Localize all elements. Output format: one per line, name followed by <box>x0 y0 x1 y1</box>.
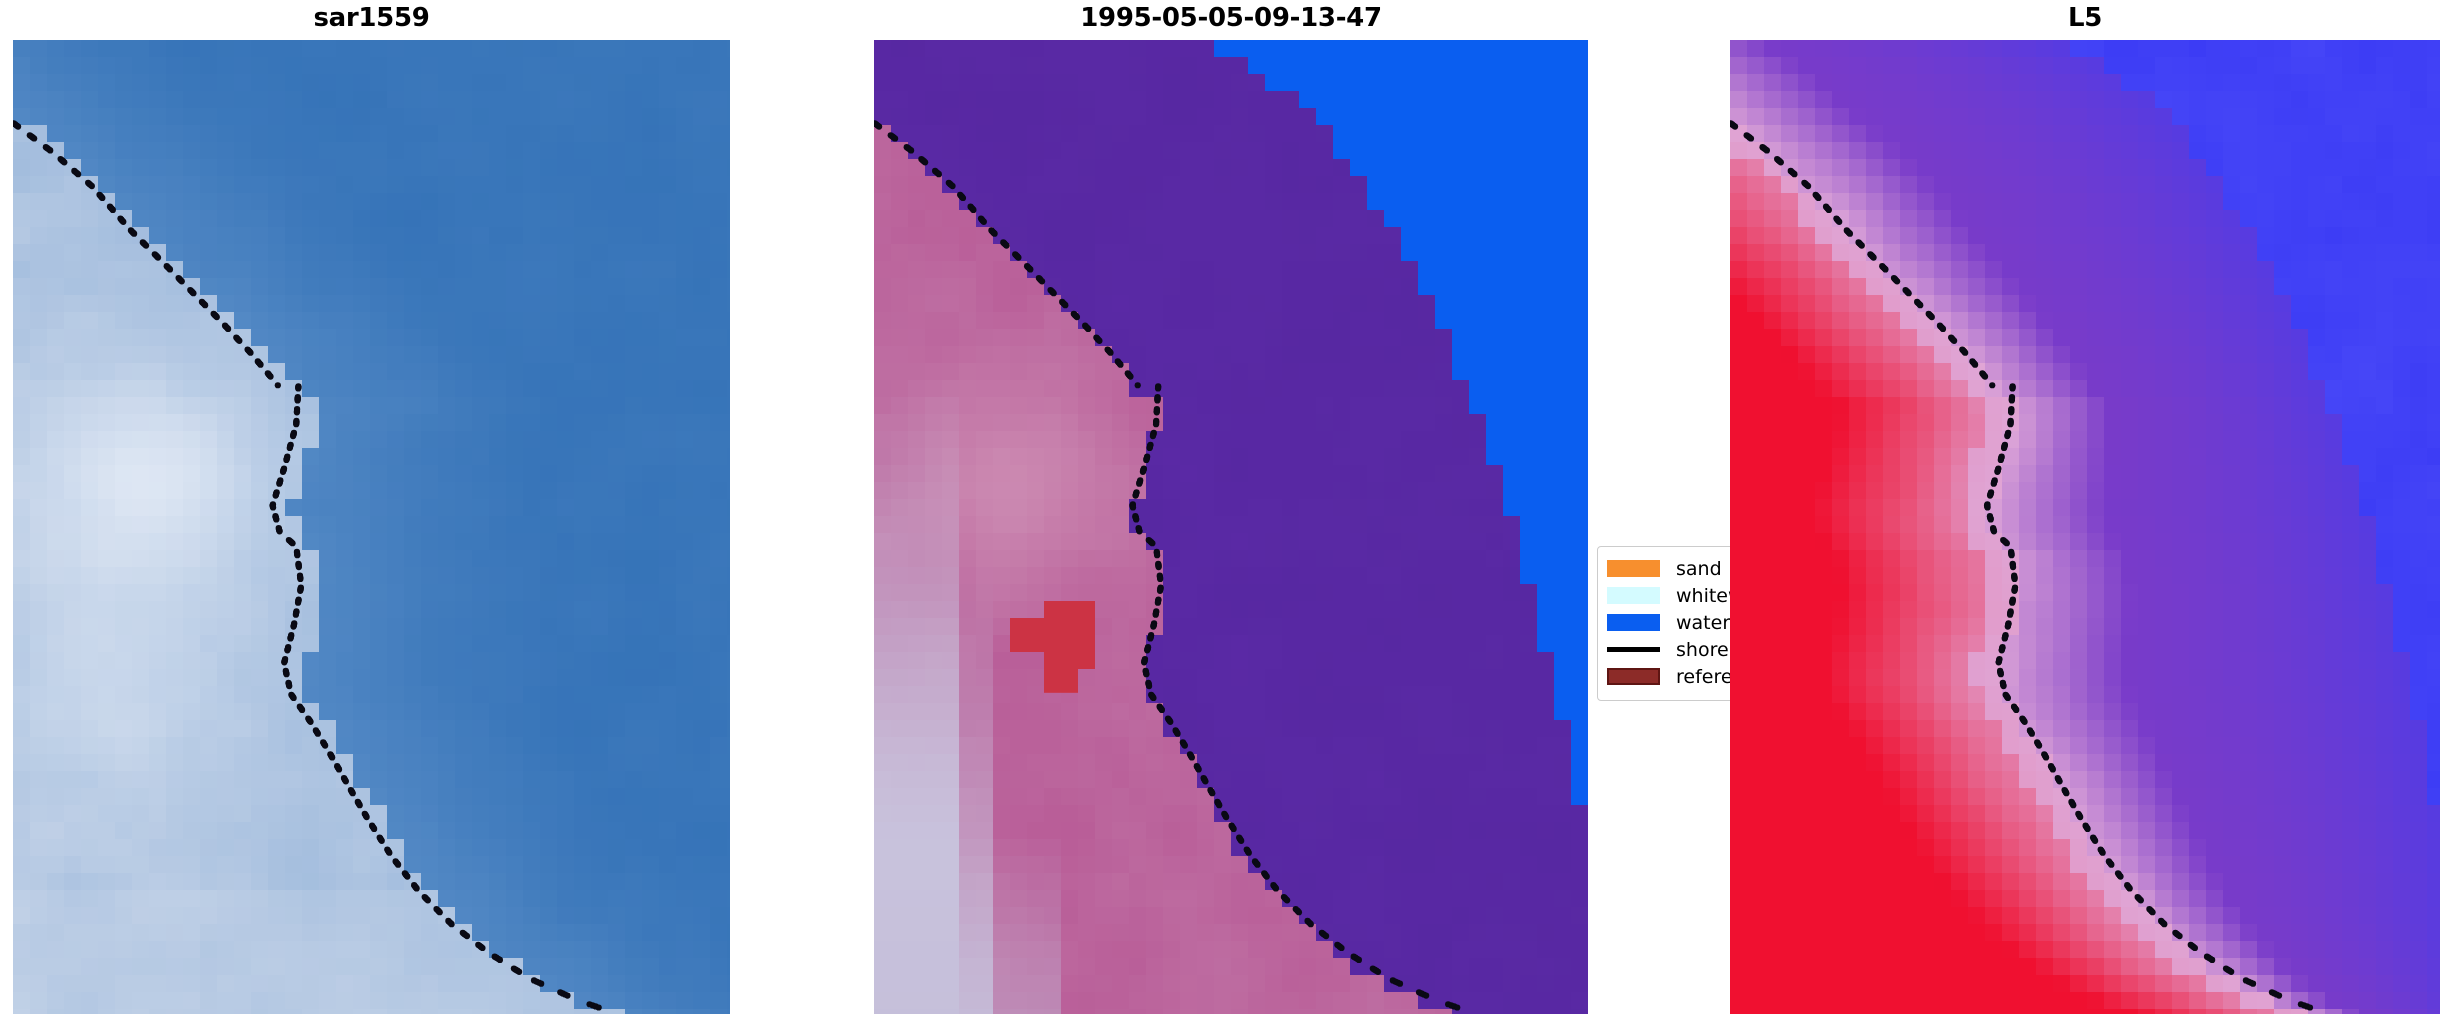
sar-image-canvas-wrap <box>13 40 730 1014</box>
reference-shoreline-swatch <box>1607 668 1660 685</box>
panel-title-l5: L5 <box>1730 0 2440 36</box>
sar-raster <box>13 40 730 1014</box>
classified-image-canvas-wrap <box>874 40 1588 1014</box>
figure-root: sar1559 1995-05-05-09-13-47 sand whitewa… <box>0 0 2460 1031</box>
sand-swatch <box>1607 560 1660 577</box>
panel-sar-image: sar1559 <box>13 0 730 1014</box>
whitewater-swatch <box>1607 587 1660 604</box>
l5-image-canvas-wrap <box>1730 40 2440 1014</box>
l5-raster <box>1730 40 2440 1014</box>
panel-l5-index-image: L5 <box>1730 0 2440 1014</box>
classified-raster <box>874 40 1588 1014</box>
panel-classified-image: 1995-05-05-09-13-47 <box>874 0 1588 1014</box>
water-swatch <box>1607 614 1660 631</box>
legend-label-water: water <box>1676 613 1730 633</box>
panel-title-classified: 1995-05-05-09-13-47 <box>874 0 1588 36</box>
shoreline-line-swatch <box>1607 647 1660 652</box>
legend-label-sand: sand <box>1676 559 1722 579</box>
panel-title-sar: sar1559 <box>13 0 730 36</box>
